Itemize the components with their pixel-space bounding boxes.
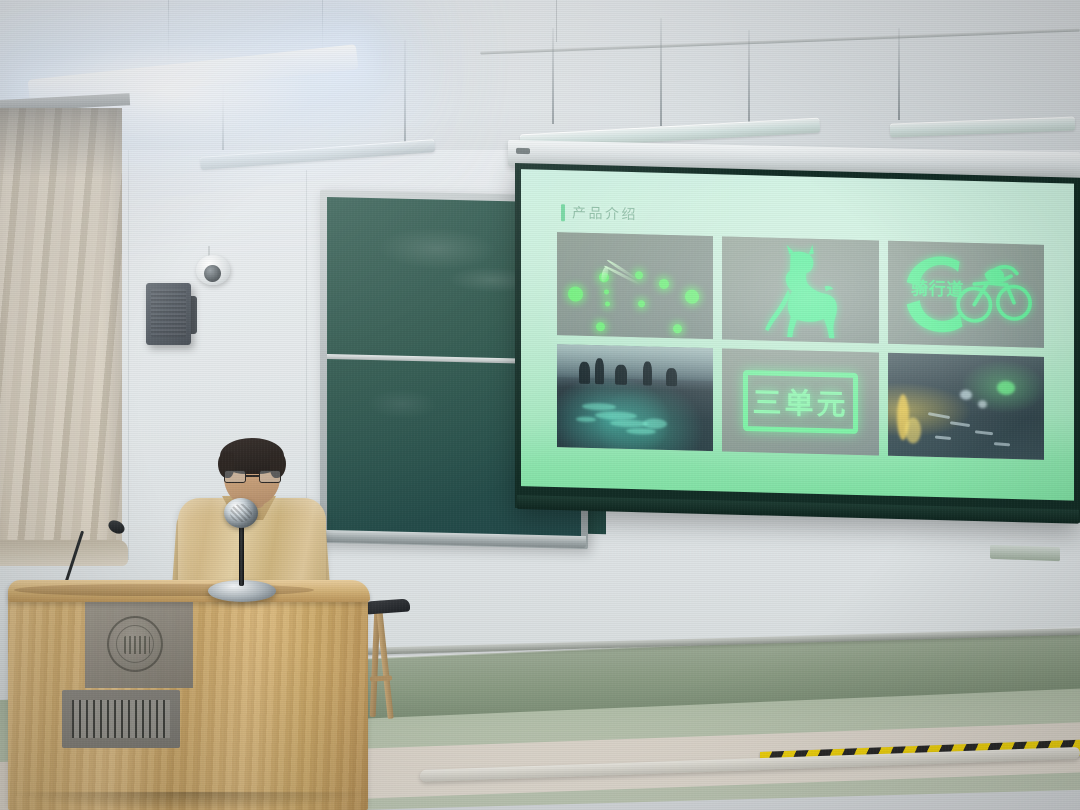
deer-icon bbox=[733, 241, 867, 339]
speaker-grille bbox=[151, 289, 186, 337]
lectern-vent bbox=[62, 690, 180, 748]
ceiling-seam bbox=[556, 0, 557, 42]
unit-sign-image: 三单元 bbox=[722, 348, 878, 455]
dot-field-image bbox=[557, 232, 713, 339]
cycling-logo-image: 骑行道 bbox=[888, 241, 1044, 348]
slide-cell-luminous-deer bbox=[722, 236, 878, 343]
light-hanger bbox=[898, 28, 900, 120]
wall-speaker bbox=[146, 283, 191, 345]
lectern-shadow bbox=[8, 792, 370, 810]
sign-text: 三单元 bbox=[752, 380, 848, 425]
university-seal-icon bbox=[107, 616, 163, 672]
wall-seam bbox=[128, 150, 129, 560]
slide-title: 产品介绍 bbox=[561, 202, 638, 224]
sign-plate: 三单元 bbox=[743, 370, 859, 435]
light-hanger bbox=[748, 30, 750, 134]
slide-cell-luminous-dot-field bbox=[557, 232, 713, 339]
screen-roller-cap bbox=[516, 148, 530, 154]
curtain-shadow bbox=[0, 108, 122, 178]
lectern-emblem-panel bbox=[85, 596, 193, 688]
light-hanger bbox=[660, 18, 662, 126]
slide-cell-night-street-photo bbox=[888, 353, 1044, 460]
curtain-hem bbox=[0, 540, 128, 566]
deer-image bbox=[722, 236, 878, 343]
slide-cell-unit-sign: 三单元 bbox=[722, 348, 878, 455]
photo-scene: 产品介绍 bbox=[0, 0, 1080, 810]
microphone-head bbox=[224, 498, 258, 528]
slide-cell-night-trail-photo bbox=[557, 344, 713, 451]
slide-title-accent-bar bbox=[561, 204, 565, 221]
projected-slide: 产品介绍 bbox=[521, 169, 1074, 500]
dome-camera bbox=[196, 255, 230, 285]
svg-text:骑行道: 骑行道 bbox=[911, 278, 964, 299]
bicycle-logo-icon: 骑行道 bbox=[892, 247, 1039, 341]
camera-lens-icon bbox=[204, 265, 221, 282]
glasses-icon bbox=[224, 470, 281, 483]
night-street-image bbox=[888, 353, 1044, 460]
light-hanger bbox=[552, 28, 554, 124]
slide-cell-cycling-path-logo: 骑行道 bbox=[888, 241, 1044, 348]
night-trail-image bbox=[557, 344, 713, 451]
floor-panel bbox=[990, 545, 1060, 561]
projection-screen: 产品介绍 bbox=[515, 163, 1080, 523]
slide-image-grid: 骑行道 bbox=[557, 232, 1044, 460]
light-hanger bbox=[404, 40, 406, 148]
slide-title-text: 产品介绍 bbox=[572, 202, 638, 224]
